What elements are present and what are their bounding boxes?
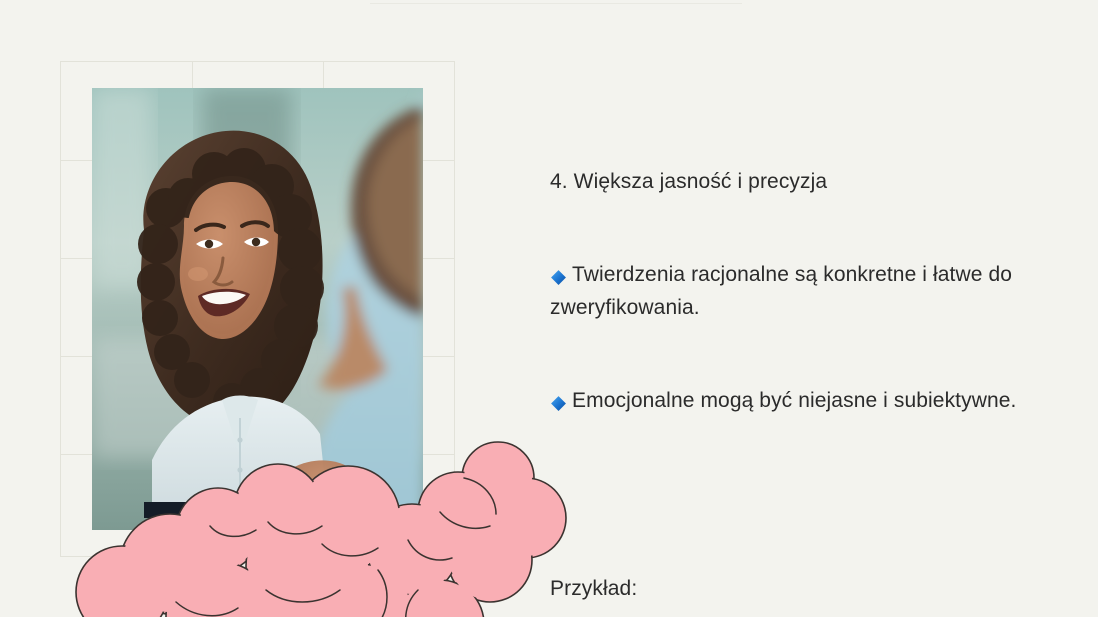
content-block-primary: 4. Większa jasność i precyzja Twierdzeni… — [550, 104, 1020, 480]
blue-diamond-icon — [550, 261, 572, 292]
bullet-item-1: Twierdzenia racjonalne są konkretne i ła… — [550, 259, 1020, 323]
grid-line-vertical — [60, 61, 61, 557]
section-heading: 4. Większa jasność i precyzja — [550, 166, 1020, 197]
bullet-text-2: Emocjonalne mogą być niejasne i subiekty… — [572, 389, 1016, 412]
bullet-item-2: Emocjonalne mogą być niejasne i subiekty… — [550, 385, 1020, 418]
blue-diamond-icon — [550, 387, 572, 418]
example-label: Przykład: — [550, 573, 1020, 604]
body-text-column: 4. Większa jasność i precyzja Twierdzeni… — [550, 104, 1020, 617]
slide-canvas: 4. Większa jasność i precyzja Twierdzeni… — [0, 0, 1098, 617]
bullet-text-1: Twierdzenia racjonalne są konkretne i ła… — [550, 263, 1018, 319]
grid-line-vertical — [454, 61, 455, 557]
top-divider-line — [370, 3, 742, 4]
content-block-example: Przykład: Jestem nieważny dla ciebie. (e… — [550, 511, 1020, 617]
conversation-photo — [92, 88, 423, 530]
grid-line-horizontal — [60, 61, 455, 62]
grid-line-horizontal — [60, 556, 455, 557]
